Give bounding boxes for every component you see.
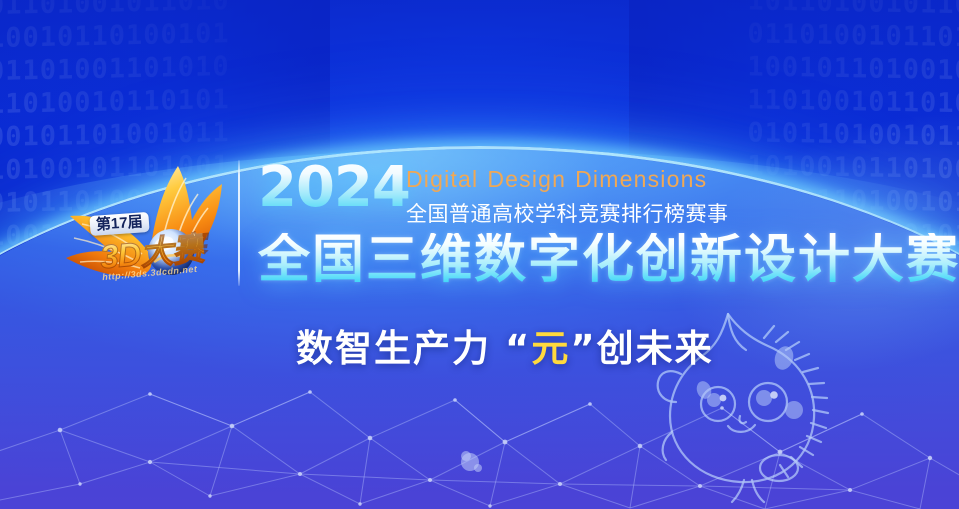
english-title: DigitalDesignDimensions <box>406 166 707 193</box>
chinese-subtitle: 全国普通高校学科竞赛排行榜赛事 <box>406 198 729 228</box>
main-title: 全国三维数字化创新设计大赛 <box>258 233 959 288</box>
vertical-divider <box>238 160 240 286</box>
slogan-highlight: 元 <box>531 327 570 370</box>
competition-banner: 01101001011010 10010110100101 0110100110… <box>0 0 959 509</box>
slogan-quote-open: “ <box>505 327 531 370</box>
slogan-quote-close: ” <box>570 327 596 370</box>
year-label: 2024 <box>258 160 410 216</box>
english-title-word-2: Design <box>487 166 566 192</box>
slogan-suffix: 创未来 <box>597 327 714 370</box>
competition-logo[interactable]: 第17届 3D大赛 http://3ds.3dcdn.net <box>58 158 248 298</box>
slogan-prefix: 数智生产力 <box>296 327 491 370</box>
slogan: 数智生产力“元”创未来 <box>296 318 714 372</box>
logo-edition-badge: 第17届 <box>89 212 149 236</box>
english-title-word-3: Dimensions <box>575 166 707 192</box>
english-title-word-1: Digital <box>406 166 478 192</box>
